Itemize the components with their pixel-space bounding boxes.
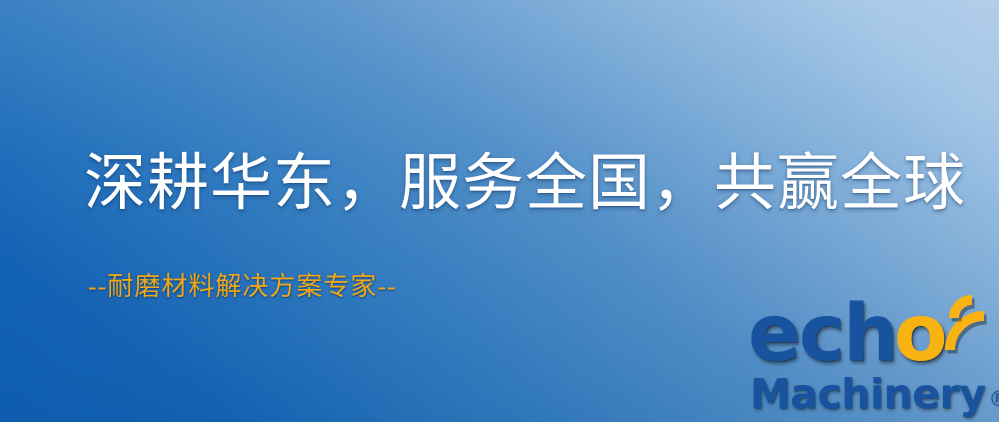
logo-wordmark-ech: ech — [748, 296, 897, 372]
banner-subtitle: --耐磨材料解决方案专家-- — [88, 266, 397, 303]
registered-trademark-icon: ® — [988, 387, 999, 411]
logo-tagline-row: Machinery® — [750, 370, 999, 418]
logo-tagline: Machinery — [750, 370, 985, 418]
logo-wordmark: ech o — [748, 296, 996, 372]
signal-waves-icon — [926, 292, 998, 356]
banner-headline: 深耕华东，服务全国，共赢全球 — [84, 152, 944, 217]
hero-banner: 深耕华东，服务全国，共赢全球 --耐磨材料解决方案专家-- ech o Mach… — [0, 0, 999, 422]
echo-machinery-logo: ech o Machinery® — [748, 296, 996, 420]
